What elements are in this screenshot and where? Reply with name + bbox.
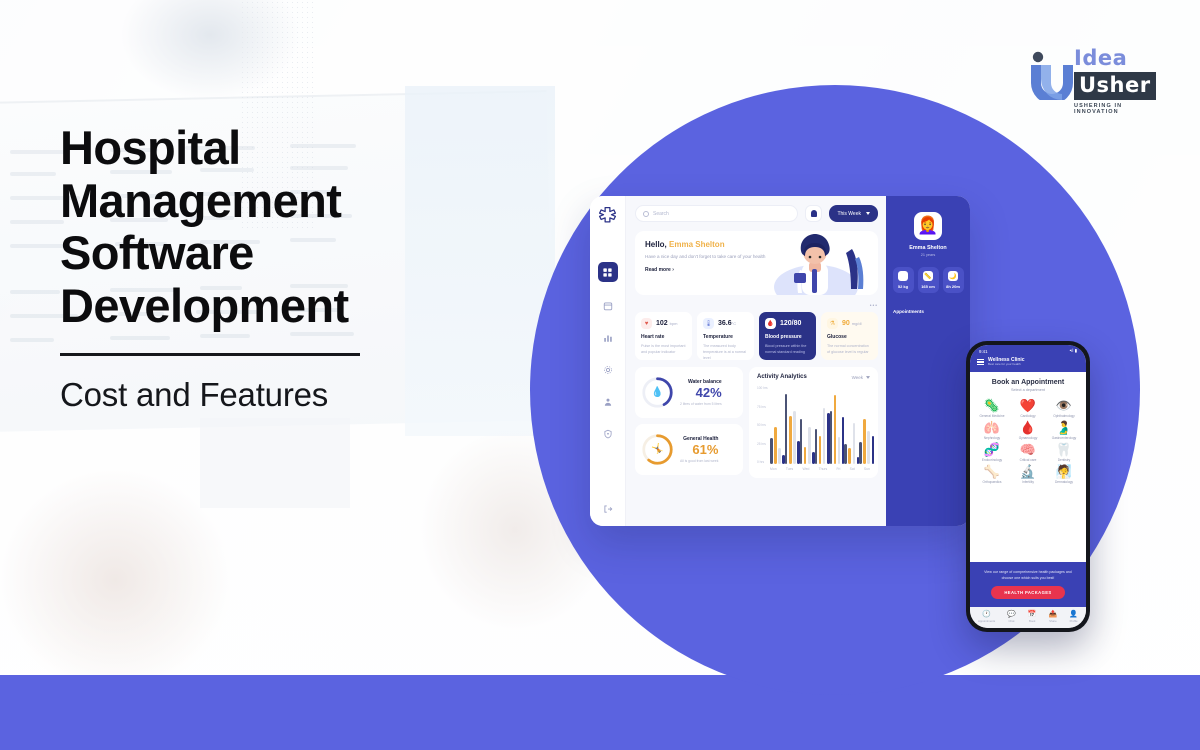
sidebar-item-analytics[interactable] [599, 329, 616, 346]
phone-tab[interactable]: 💬Chat [1007, 611, 1016, 623]
tab-icon: 📤 [1049, 611, 1058, 618]
desktop-dashboard-mockup: Search This Week Hello, Emma Shelton Hav… [590, 196, 970, 526]
department-item[interactable]: 🦴Orthopaedics [975, 465, 1009, 484]
chart-bar-group [785, 386, 800, 464]
tab-icon: 🕐 [982, 611, 991, 618]
weight-icon: ⚖ [898, 271, 908, 281]
department-item[interactable]: 🫃Gastroenterology [1047, 421, 1081, 440]
patient-metric-weight: ⚖ 52 kg [893, 267, 914, 293]
phone-heading: Book an Appointment [975, 379, 1081, 386]
chart-bar [793, 411, 796, 464]
dashboard-sidebar [590, 196, 626, 526]
department-icon: 👁️ [1056, 399, 1072, 412]
department-label: Endocrinology [982, 458, 1002, 462]
patient-age: 21 years [921, 253, 936, 257]
y-tick: 100 hrs [757, 386, 770, 390]
appointments-section-title: Appointments [893, 309, 924, 314]
stat-value: 90 mg/dl [842, 320, 862, 327]
tab-label: Appointments [978, 619, 995, 623]
chart-bar-group [770, 386, 785, 464]
department-label: Orthopaedics [983, 480, 1002, 484]
greeting-banner: Hello, Emma Shelton Have a nice day and … [635, 231, 878, 295]
hamburger-icon[interactable] [977, 359, 984, 365]
stat-note: Pulse is the most important and popular … [641, 343, 686, 355]
title-divider [60, 353, 360, 356]
patient-panel: 👩‍🦰 Emma Shelton 21 years ⚖ 52 kg 📏 165 … [886, 196, 970, 526]
title-line-4: Development [60, 279, 349, 332]
patient-name: Emma Shelton [909, 245, 946, 251]
search-placeholder: Search [653, 211, 669, 217]
chart-bar [853, 423, 856, 464]
logo-tagline: USHERING IN INNOVATION [1074, 103, 1166, 115]
promo-text: View our range of comprehensive health p… [978, 569, 1078, 581]
phone-status-bar: 9:41 •ıl ▮ [970, 345, 1086, 355]
y-tick: 75 hrs [757, 405, 770, 409]
department-icon: 🩸 [1020, 421, 1036, 434]
y-tick: 25 hrs [757, 442, 770, 446]
tab-icon: 📅 [1028, 611, 1037, 618]
health-progress-ring: 🤸 [641, 433, 674, 466]
stat-value: 102 bpm [656, 320, 677, 327]
title-line-2: Management [60, 174, 341, 227]
chart-bar-group [830, 386, 845, 464]
chart-bar-group [800, 386, 815, 464]
department-label: Nephrology [984, 436, 1000, 440]
department-icon: 🦷 [1056, 443, 1072, 456]
phone-tab[interactable]: 📅Book [1028, 611, 1037, 623]
tab-icon: 👤 [1069, 611, 1078, 618]
chart-bar [774, 427, 777, 464]
stat-card-temperature[interactable]: 🌡 36.6°C Temperature The measured body t… [697, 312, 754, 360]
patient-avatar[interactable]: 👩‍🦰 [914, 212, 942, 240]
chart-bar [819, 436, 822, 464]
patient-metric-height: 📏 165 cm [918, 267, 939, 293]
chart-bar [778, 448, 781, 464]
department-icon: 🔬 [1020, 465, 1036, 478]
greeting-message: Have a nice day and don't forget to take… [645, 253, 773, 261]
x-tick: Sun [864, 467, 870, 471]
department-label: Dentistry [1058, 458, 1071, 462]
chart-bar [830, 411, 833, 464]
department-label: Dermatology [1055, 480, 1073, 484]
gauge-card-general-health[interactable]: 🤸 General Health 61% All is good from la… [635, 424, 743, 475]
brand-tagline: Best care for your health [988, 363, 1025, 367]
patient-metric-sleep: 🌙 8h 20m [943, 267, 964, 293]
stat-label: Temperature [703, 334, 748, 340]
department-item[interactable]: 🧬Endocrinology [975, 443, 1009, 462]
chart-bar [789, 416, 792, 464]
title-line-1: Hospital [60, 121, 241, 174]
department-item[interactable]: 🧠Critical care [1011, 443, 1045, 462]
stats-row-header: ••• [635, 303, 878, 309]
page-title: Hospital Management Software Development [60, 122, 510, 333]
doctor-illustration [760, 233, 872, 295]
gauge-note: 2 litres of water from 5 litres [680, 402, 722, 406]
chart-bar [770, 438, 773, 464]
department-label: Gastroenterology [1052, 436, 1076, 440]
stat-note: Blood pressure within the normal standar… [765, 343, 810, 355]
stat-card-heart-rate[interactable]: ♥ 102 bpm Heart rate Pulse is the most i… [635, 312, 692, 360]
dashboard-lower-row: 💧 Water balance 42% 2 litres of water fr… [635, 367, 878, 478]
date-range-label: This Week [837, 211, 861, 217]
metric-value: 165 cm [921, 284, 935, 289]
status-indicators: •ıl ▮ [1070, 348, 1077, 354]
logo-idea-text: Idea [1074, 48, 1166, 69]
gauge-value: 42% [680, 385, 722, 401]
x-tick: Mon [770, 467, 777, 471]
activity-person-icon: 🤸 [641, 433, 674, 466]
stat-note: The measured body temperature is at a no… [703, 343, 748, 361]
department-item[interactable]: 🩸Gynaecology [1011, 421, 1045, 440]
height-icon: 📏 [923, 271, 933, 281]
sidebar-item-security[interactable] [599, 425, 616, 442]
sidebar-item-settings[interactable] [599, 361, 616, 378]
phone-tab[interactable]: 📤Share [1049, 611, 1058, 623]
tab-icon: 💬 [1007, 611, 1016, 618]
logo-u-mark-icon [1026, 50, 1078, 100]
phone-brand: Wellness Clinic Best care for your healt… [988, 357, 1025, 367]
row-menu-icon[interactable]: ••• [870, 303, 878, 309]
department-label: General Medicine [980, 414, 1005, 418]
chart-bar [800, 419, 803, 464]
glucose-icon: ⚗ [827, 318, 838, 329]
department-icon: 🫃 [1056, 421, 1072, 434]
tab-label: Book [1029, 619, 1035, 623]
chart-x-axis: MonTuesWedThursFriSatSun [770, 467, 870, 471]
dashboard-main: Search This Week Hello, Emma Shelton Hav… [626, 196, 886, 526]
department-label: Ophthalmology [1053, 414, 1074, 418]
phone-content: Book an Appointment Select a department … [970, 372, 1086, 562]
chart-range-dropdown[interactable]: Week [852, 375, 870, 380]
chart-bar [863, 419, 866, 464]
department-icon: 🧬 [984, 443, 1000, 456]
headline-block: Hospital Management Software Development… [60, 122, 510, 414]
department-item[interactable]: ❤️Cardiology [1011, 399, 1045, 418]
gauge-card-water-balance[interactable]: 💧 Water balance 42% 2 litres of water fr… [635, 367, 743, 418]
department-item[interactable]: 🧖Dermatology [1047, 465, 1081, 484]
department-item[interactable]: 🦷Dentistry [1047, 443, 1081, 462]
chevron-down-icon [866, 212, 870, 215]
stat-card-glucose[interactable]: ⚗ 90 mg/dl Glucose The normal concentrat… [821, 312, 878, 360]
activity-analytics-chart: Activity Analytics Week 100 hrs 75 hrs 5… [749, 367, 878, 478]
water-progress-ring: 💧 [641, 376, 674, 409]
x-tick: Wed [802, 467, 809, 471]
tab-label: Share [1049, 619, 1056, 623]
gauge-value: 61% [680, 442, 718, 458]
stat-value: 120/80 [780, 320, 801, 327]
department-label: Cardiology [1020, 414, 1035, 418]
department-grid: 🦠General Medicine❤️Cardiology👁️Ophthalmo… [975, 399, 1081, 484]
x-tick: Fri [836, 467, 840, 471]
status-time: 9:41 [979, 349, 988, 354]
blood-drop-icon: 🩸 [765, 318, 776, 329]
title-line-3: Software [60, 226, 254, 279]
phone-tab[interactable]: 🕐Appointments [978, 611, 995, 623]
department-icon: ❤️ [1020, 399, 1036, 412]
chart-bar [815, 429, 818, 464]
stat-label: Heart rate [641, 334, 686, 340]
chart-bar [872, 436, 875, 464]
heart-icon: ♥ [641, 318, 652, 329]
chart-bar-group [859, 386, 874, 464]
x-tick: Thurs [819, 467, 828, 471]
chart-range-label: Week [852, 375, 863, 380]
health-packages-button[interactable]: HEALTH PACKAGES [991, 586, 1065, 599]
sidebar-item-profile[interactable] [599, 393, 616, 410]
chart-bar [804, 447, 807, 464]
department-item[interactable]: 🦠General Medicine [975, 399, 1009, 418]
department-label: Gynaecology [1019, 436, 1038, 440]
y-tick: 0 hrs [757, 460, 770, 464]
department-item[interactable]: 🫁Nephrology [975, 421, 1009, 440]
chart-bar [848, 448, 851, 464]
department-item[interactable]: 👁️Ophthalmology [1047, 399, 1081, 418]
phone-tab[interactable]: 👤Profile [1069, 611, 1078, 623]
phone-subheading: Select a department [975, 388, 1081, 392]
chart-bar [834, 395, 837, 464]
chart-bar [859, 442, 862, 464]
phone-navbar: Wellness Clinic Best care for your healt… [970, 355, 1086, 372]
phone-tab-bar: 🕐Appointments💬Chat📅Book📤Share👤Profile [970, 607, 1086, 628]
stat-label: Blood pressure [765, 334, 810, 340]
chart-title: Activity Analytics [757, 374, 807, 380]
background-blob-top [120, 0, 300, 100]
metric-value: 8h 20m [946, 284, 960, 289]
chart-bar [844, 444, 847, 464]
chart-bar-group [844, 386, 859, 464]
chart-plot-area [770, 386, 870, 464]
department-icon: 🦠 [984, 399, 1000, 412]
sidebar-item-dashboard[interactable] [598, 262, 618, 282]
department-icon: 🧖 [1056, 465, 1072, 478]
dashboard-topbar: Search This Week [635, 205, 878, 222]
sleep-icon: 🌙 [948, 271, 958, 281]
brand-logo[interactable]: Idea Usher USHERING IN INNOVATION [1026, 44, 1166, 106]
sidebar-item-logout[interactable] [599, 500, 616, 517]
department-label: Infertility [1022, 480, 1034, 484]
date-range-dropdown[interactable]: This Week [829, 205, 878, 222]
tab-label: Chat [1009, 619, 1015, 623]
chart-y-axis: 100 hrs 75 hrs 50 hrs 25 hrs 0 hrs [757, 386, 770, 464]
stat-label: Glucose [827, 334, 872, 340]
stat-card-blood-pressure[interactable]: 🩸 120/80 Blood pressure Blood pressure w… [759, 312, 816, 360]
mobile-app-mockup: 9:41 •ıl ▮ Wellness Clinic Best care for… [966, 341, 1090, 632]
department-icon: 🫁 [984, 421, 1000, 434]
gauge-column: 💧 Water balance 42% 2 litres of water fr… [635, 367, 743, 478]
x-tick: Sat [850, 467, 855, 471]
read-more-label: Read more [645, 267, 671, 273]
search-icon [643, 211, 649, 217]
water-drop-icon: 💧 [641, 376, 674, 409]
logo-wordmark: Idea Usher USHERING IN INNOVATION [1074, 48, 1166, 115]
department-icon: 🦴 [984, 465, 1000, 478]
greeting-text: Hello, [645, 240, 667, 249]
department-icon: 🧠 [1020, 443, 1036, 456]
page-subtitle: Cost and Features [60, 376, 510, 414]
thermometer-icon: 🌡 [703, 318, 714, 329]
vitals-stat-row: ♥ 102 bpm Heart rate Pulse is the most i… [635, 312, 878, 360]
tab-label: Profile [1070, 619, 1078, 623]
chart-bar [867, 431, 870, 464]
y-tick: 50 hrs [757, 423, 770, 427]
sidebar-item-calendar[interactable] [599, 297, 616, 314]
chart-bar [808, 427, 811, 464]
patient-metrics: ⚖ 52 kg 📏 165 cm 🌙 8h 20m [893, 267, 964, 293]
medical-cross-icon [598, 206, 617, 225]
chart-bar-group [815, 386, 830, 464]
phone-screen: 9:41 •ıl ▮ Wellness Clinic Best care for… [970, 345, 1086, 628]
bell-icon [811, 210, 817, 217]
logo-usher-text: Usher [1074, 72, 1156, 100]
stat-value: 36.6°C [718, 320, 736, 327]
metric-value: 52 kg [898, 284, 908, 289]
chart-bar [823, 408, 826, 464]
search-input[interactable]: Search [635, 205, 798, 222]
stat-note: The normal concentration of glucose leve… [827, 343, 872, 355]
chart-bar [838, 437, 841, 464]
chart-bar [785, 394, 788, 464]
x-tick: Tues [786, 467, 793, 471]
notification-button[interactable] [805, 205, 822, 222]
department-item[interactable]: 🔬Infertility [1011, 465, 1045, 484]
greeting-username: Emma Shelton [669, 240, 725, 249]
background-blob-bottom-left [0, 470, 230, 690]
bottom-accent-bar [0, 675, 1200, 750]
gauge-note: All is good from last week [680, 459, 718, 463]
phone-promo-banner: View our range of comprehensive health p… [970, 562, 1086, 607]
department-label: Critical care [1020, 458, 1037, 462]
